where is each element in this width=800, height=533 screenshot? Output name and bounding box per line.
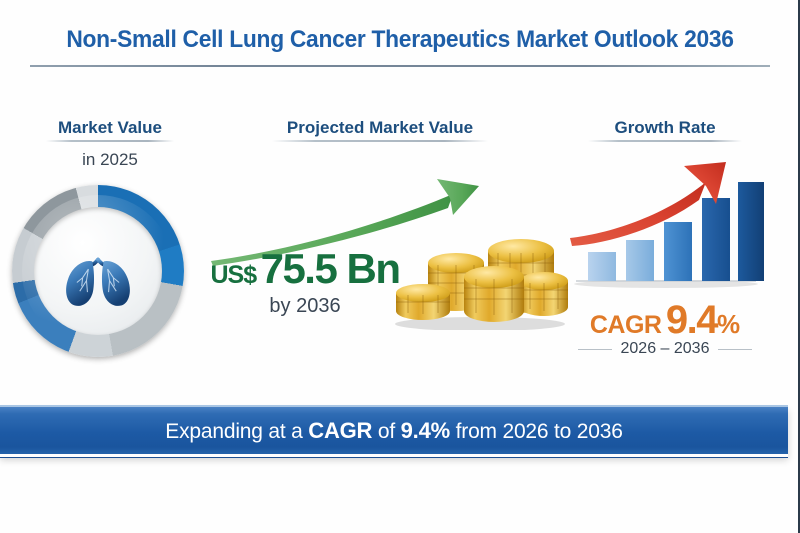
projected-value-subtitle: by 2036 [200,295,410,318]
banner-strong-rate: 9.4% [401,418,450,443]
market-value-subtitle: in 2025 [20,150,200,170]
page-title: Non-Small Cell Lung Cancer Therapeutics … [20,26,780,54]
banner-text: Expanding at a CAGR of 9.4% from 2026 to… [165,418,622,444]
growth-rate-heading: Growth Rate [570,118,760,138]
banner-strong-cagr: CAGR [308,418,372,443]
projected-value-amount: US$ 75.5 Bn [200,245,410,293]
cagr-value-display: CAGR 9.4% [560,298,770,343]
projected-value-heading-rule [272,140,488,142]
banner-text-prefix: Expanding at a [165,420,302,443]
bottom-banner: Expanding at a CAGR of 9.4% from 2026 to… [0,405,788,454]
market-value-donut [12,185,184,357]
title-divider [30,65,770,67]
market-value-heading-rule [46,140,174,142]
cagr-number: 9.4 [666,298,717,342]
cagr-label: CAGR [590,311,662,339]
cagr-percent-sign: % [717,309,740,339]
bar-chart-growth-icon [566,160,766,305]
amount-value: 75.5 Bn [261,245,400,292]
coin-stacks-icon [390,205,570,330]
period-rule-right [718,349,752,350]
infographic-canvas: Non-Small Cell Lung Cancer Therapeutics … [0,0,800,533]
lungs-icon [50,223,146,319]
banner-text-suffix: from 2026 to 2036 [456,420,623,443]
projected-value-heading: Projected Market Value [255,118,505,138]
banner-text-mid: of [378,420,395,443]
currency-symbol: US$ [211,261,257,289]
market-value-heading: Market Value [20,118,200,138]
growth-rate-heading-rule [588,140,742,142]
